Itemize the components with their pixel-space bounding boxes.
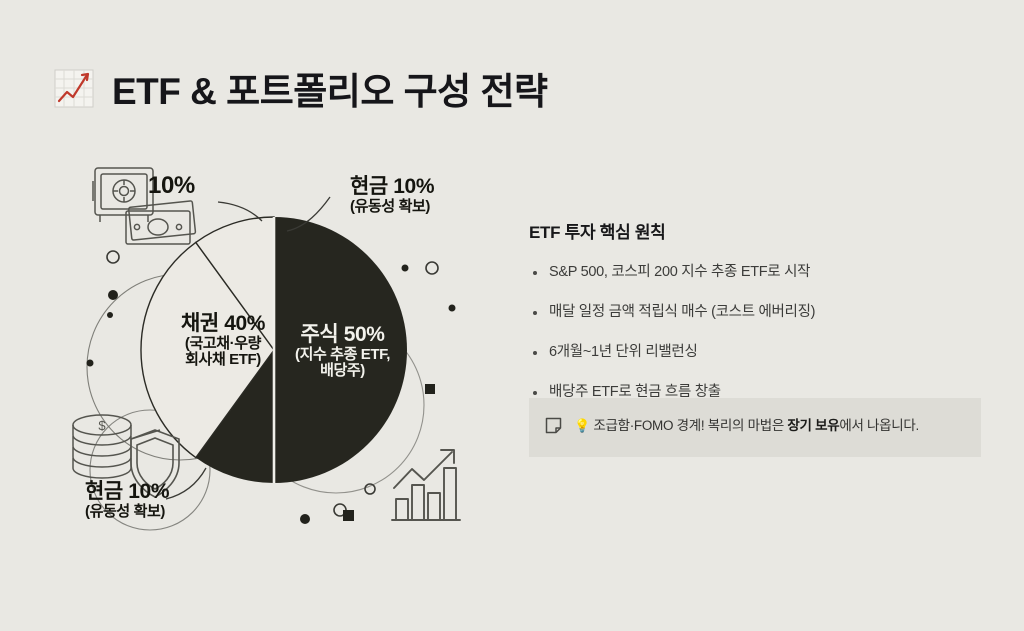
- stocks-sub-1: (지수 추종 ETF,: [275, 347, 410, 364]
- pie-label-cash-bottom: 현금 10% (유동성 확보): [85, 480, 169, 520]
- tip-text-after: 에서 나옵니다.: [839, 418, 919, 433]
- list-item: 6개월~1년 단위 리밸런싱: [529, 343, 981, 362]
- bullet-dot-icon: [533, 351, 537, 355]
- pie-label-cash-top: 현금 10% (유동성 확보): [350, 175, 434, 215]
- svg-text:$: $: [98, 418, 106, 433]
- banknotes-icon: [126, 201, 196, 244]
- cash-top-main: 현금 10%: [350, 175, 434, 199]
- sticky-note-icon: [545, 417, 562, 434]
- decor-ring-4: [365, 484, 375, 494]
- line-chart-icon: [52, 66, 96, 110]
- decor-dot-1: [108, 290, 118, 300]
- pie-label-stocks: 주식 50% (지수 추종 ETF, 배당주): [275, 323, 410, 380]
- bar-chart-growth-icon: [392, 450, 460, 520]
- stocks-sub-2: 배당주): [275, 363, 410, 380]
- lightbulb-icon: 💡: [574, 418, 590, 433]
- list-item-label: 매달 일정 금액 적립식 매수 (코스트 에버리징): [549, 303, 815, 322]
- list-item-label: 6개월~1년 단위 리밸런싱: [549, 343, 698, 362]
- safe-vault-icon: [93, 168, 153, 222]
- tip-callout: 💡 조급함·FOMO 경계! 복리의 마법은 장기 보유에서 나옵니다.: [529, 398, 981, 457]
- principles-panel: ETF 투자 핵심 원칙 S&P 500, 코스피 200 지수 추종 ETF로…: [529, 218, 981, 422]
- tip-text-before: 조급함·FOMO 경계! 복리의 마법은: [593, 418, 787, 433]
- decor-dot-3: [402, 265, 409, 272]
- stocks-main: 주식 50%: [275, 323, 410, 347]
- bullet-dot-icon: [533, 391, 537, 395]
- tip-text-bold: 장기 보유: [787, 418, 839, 433]
- coins-stack-icon: $: [73, 415, 131, 478]
- tip-text: 💡 조급함·FOMO 경계! 복리의 마법은 장기 보유에서 나옵니다.: [574, 415, 919, 437]
- list-item-label: S&P 500, 코스피 200 지수 추종 ETF로 시작: [549, 263, 810, 282]
- principles-list: S&P 500, 코스피 200 지수 추종 ETF로 시작 매달 일정 금액 …: [529, 263, 981, 401]
- ten-percent-value: 10%: [148, 173, 195, 200]
- decor-square-2: [343, 510, 354, 521]
- decor-ring-1: [107, 251, 119, 263]
- cash-bottom-main: 현금 10%: [85, 480, 169, 504]
- portfolio-pie-chart: $ 10% 현금 10% (유동성 확보) 채권 40% (국고채·우량 회사채…: [0, 105, 510, 575]
- pie-label-ten-percent: 10%: [148, 173, 195, 200]
- decor-square-1: [425, 384, 435, 394]
- list-item: 매달 일정 금액 적립식 매수 (코스트 에버리징): [529, 303, 981, 322]
- list-item: S&P 500, 코스피 200 지수 추종 ETF로 시작: [529, 263, 981, 282]
- decor-dot-4: [449, 305, 456, 312]
- decor-dot-6: [87, 360, 94, 367]
- cash-top-sub: (유동성 확보): [350, 199, 434, 216]
- principles-title: ETF 투자 핵심 원칙: [529, 218, 981, 243]
- cash-bottom-sub: (유동성 확보): [85, 504, 169, 521]
- bullet-dot-icon: [533, 311, 537, 315]
- decor-dot-5: [300, 514, 310, 524]
- bullet-dot-icon: [533, 271, 537, 275]
- decor-dot-2: [107, 312, 113, 318]
- decor-ring-2: [426, 262, 438, 274]
